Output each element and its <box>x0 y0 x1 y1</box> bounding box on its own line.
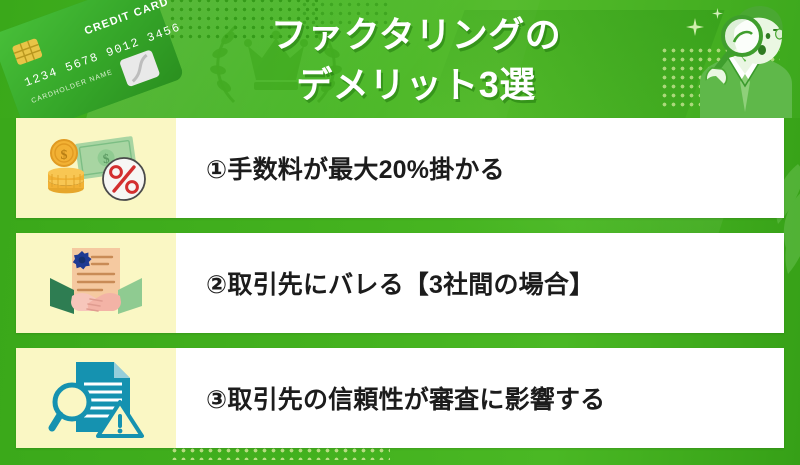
list-item-label: ①手数料が最大20%掛かる <box>206 150 505 186</box>
list-item[interactable]: $ <box>16 118 784 218</box>
credit-card-brand-label: CREDIT CARD <box>83 0 171 37</box>
credit-card-number: 1234 5678 9012 3456 <box>23 20 183 90</box>
demerit-list: $ <box>0 118 800 465</box>
page-title: ファクタリングの デメリット3選 <box>196 8 636 112</box>
header-banner: 1234 5678 9012 3456 CARDHOLDER NAME CRED… <box>0 0 800 118</box>
list-item-label: ③取引先の信頼性が審査に影響する <box>206 380 605 416</box>
list-item-text-area: ②取引先にバレる【3社間の場合】 <box>176 233 784 333</box>
credit-card-holder: CARDHOLDER NAME <box>30 69 113 105</box>
list-item-label: ②取引先にバレる【3社間の場合】 <box>206 265 594 301</box>
credit-card-illustration: 1234 5678 9012 3456 CARDHOLDER NAME CRED… <box>0 0 196 118</box>
svg-text:$: $ <box>61 148 68 163</box>
halftone-dots-header-right <box>660 46 780 108</box>
list-item-text-area: ①手数料が最大20%掛かる <box>176 118 784 218</box>
businessman-magnifier-illustration <box>670 0 800 118</box>
sparkle-icon-large <box>686 18 704 41</box>
list-item-text-area: ③取引先の信頼性が審査に影響する <box>176 348 784 448</box>
list-item[interactable]: ②取引先にバレる【3社間の場合】 <box>16 233 784 333</box>
list-item[interactable]: ③取引先の信頼性が審査に影響する <box>16 348 784 448</box>
infographic-root: 1234 5678 9012 3456 CARDHOLDER NAME CRED… <box>0 0 800 465</box>
document-magnifier-warning-icon <box>16 348 176 448</box>
sparkle-icon-small <box>712 6 723 24</box>
title-line-2: デメリット3選 <box>296 60 536 110</box>
money-percent-icon: $ <box>16 118 176 218</box>
handshake-contract-icon <box>16 233 176 333</box>
title-line-1: ファクタリングの <box>271 10 562 60</box>
